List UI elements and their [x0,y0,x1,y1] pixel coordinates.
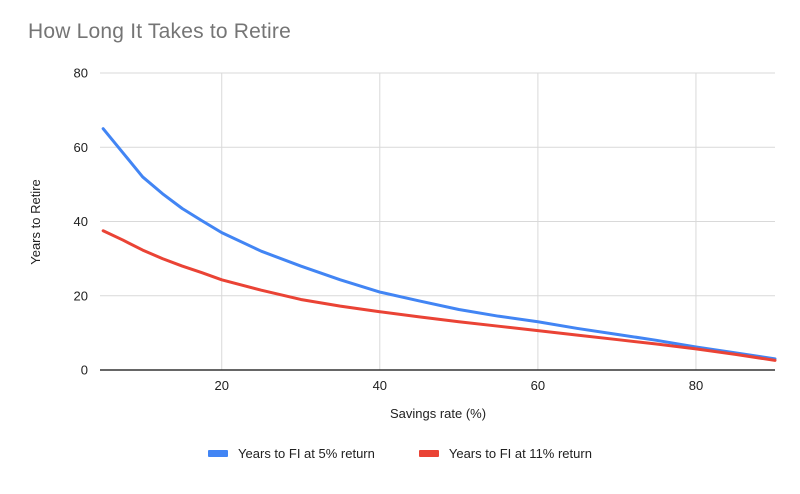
chart-container: How Long It Takes to Retire 020406080 20… [0,0,800,494]
y-axis-tick-label: 20 [74,288,88,303]
legend-item-label: Years to FI at 5% return [238,446,375,461]
legend-item[interactable]: Years to FI at 5% return [208,446,375,461]
y-axis-tick-label: 0 [81,363,88,378]
x-axis-tick-labels: 20406080 [214,378,703,393]
legend-item[interactable]: Years to FI at 11% return [419,446,592,461]
legend-item-label: Years to FI at 11% return [449,446,592,461]
chart-legend: Years to FI at 5% returnYears to FI at 1… [0,446,800,461]
y-axis-tick-label: 40 [74,214,88,229]
legend-color-swatch [419,450,439,457]
x-axis-tick-label: 20 [214,378,228,393]
x-axis-tick-label: 60 [531,378,545,393]
chart-plot: 020406080 20406080 Savings rate (%) Year… [0,0,800,440]
data-series-lines [103,129,775,361]
series-line [103,129,775,359]
y-axis-title: Years to Retire [28,179,43,265]
legend-color-swatch [208,450,228,457]
y-axis-tick-labels: 020406080 [74,66,88,378]
x-axis-title: Savings rate (%) [390,406,486,421]
x-axis-tick-label: 40 [373,378,387,393]
y-axis-tick-label: 80 [74,66,88,81]
y-axis-tick-label: 60 [74,140,88,155]
x-axis-tick-label: 80 [689,378,703,393]
